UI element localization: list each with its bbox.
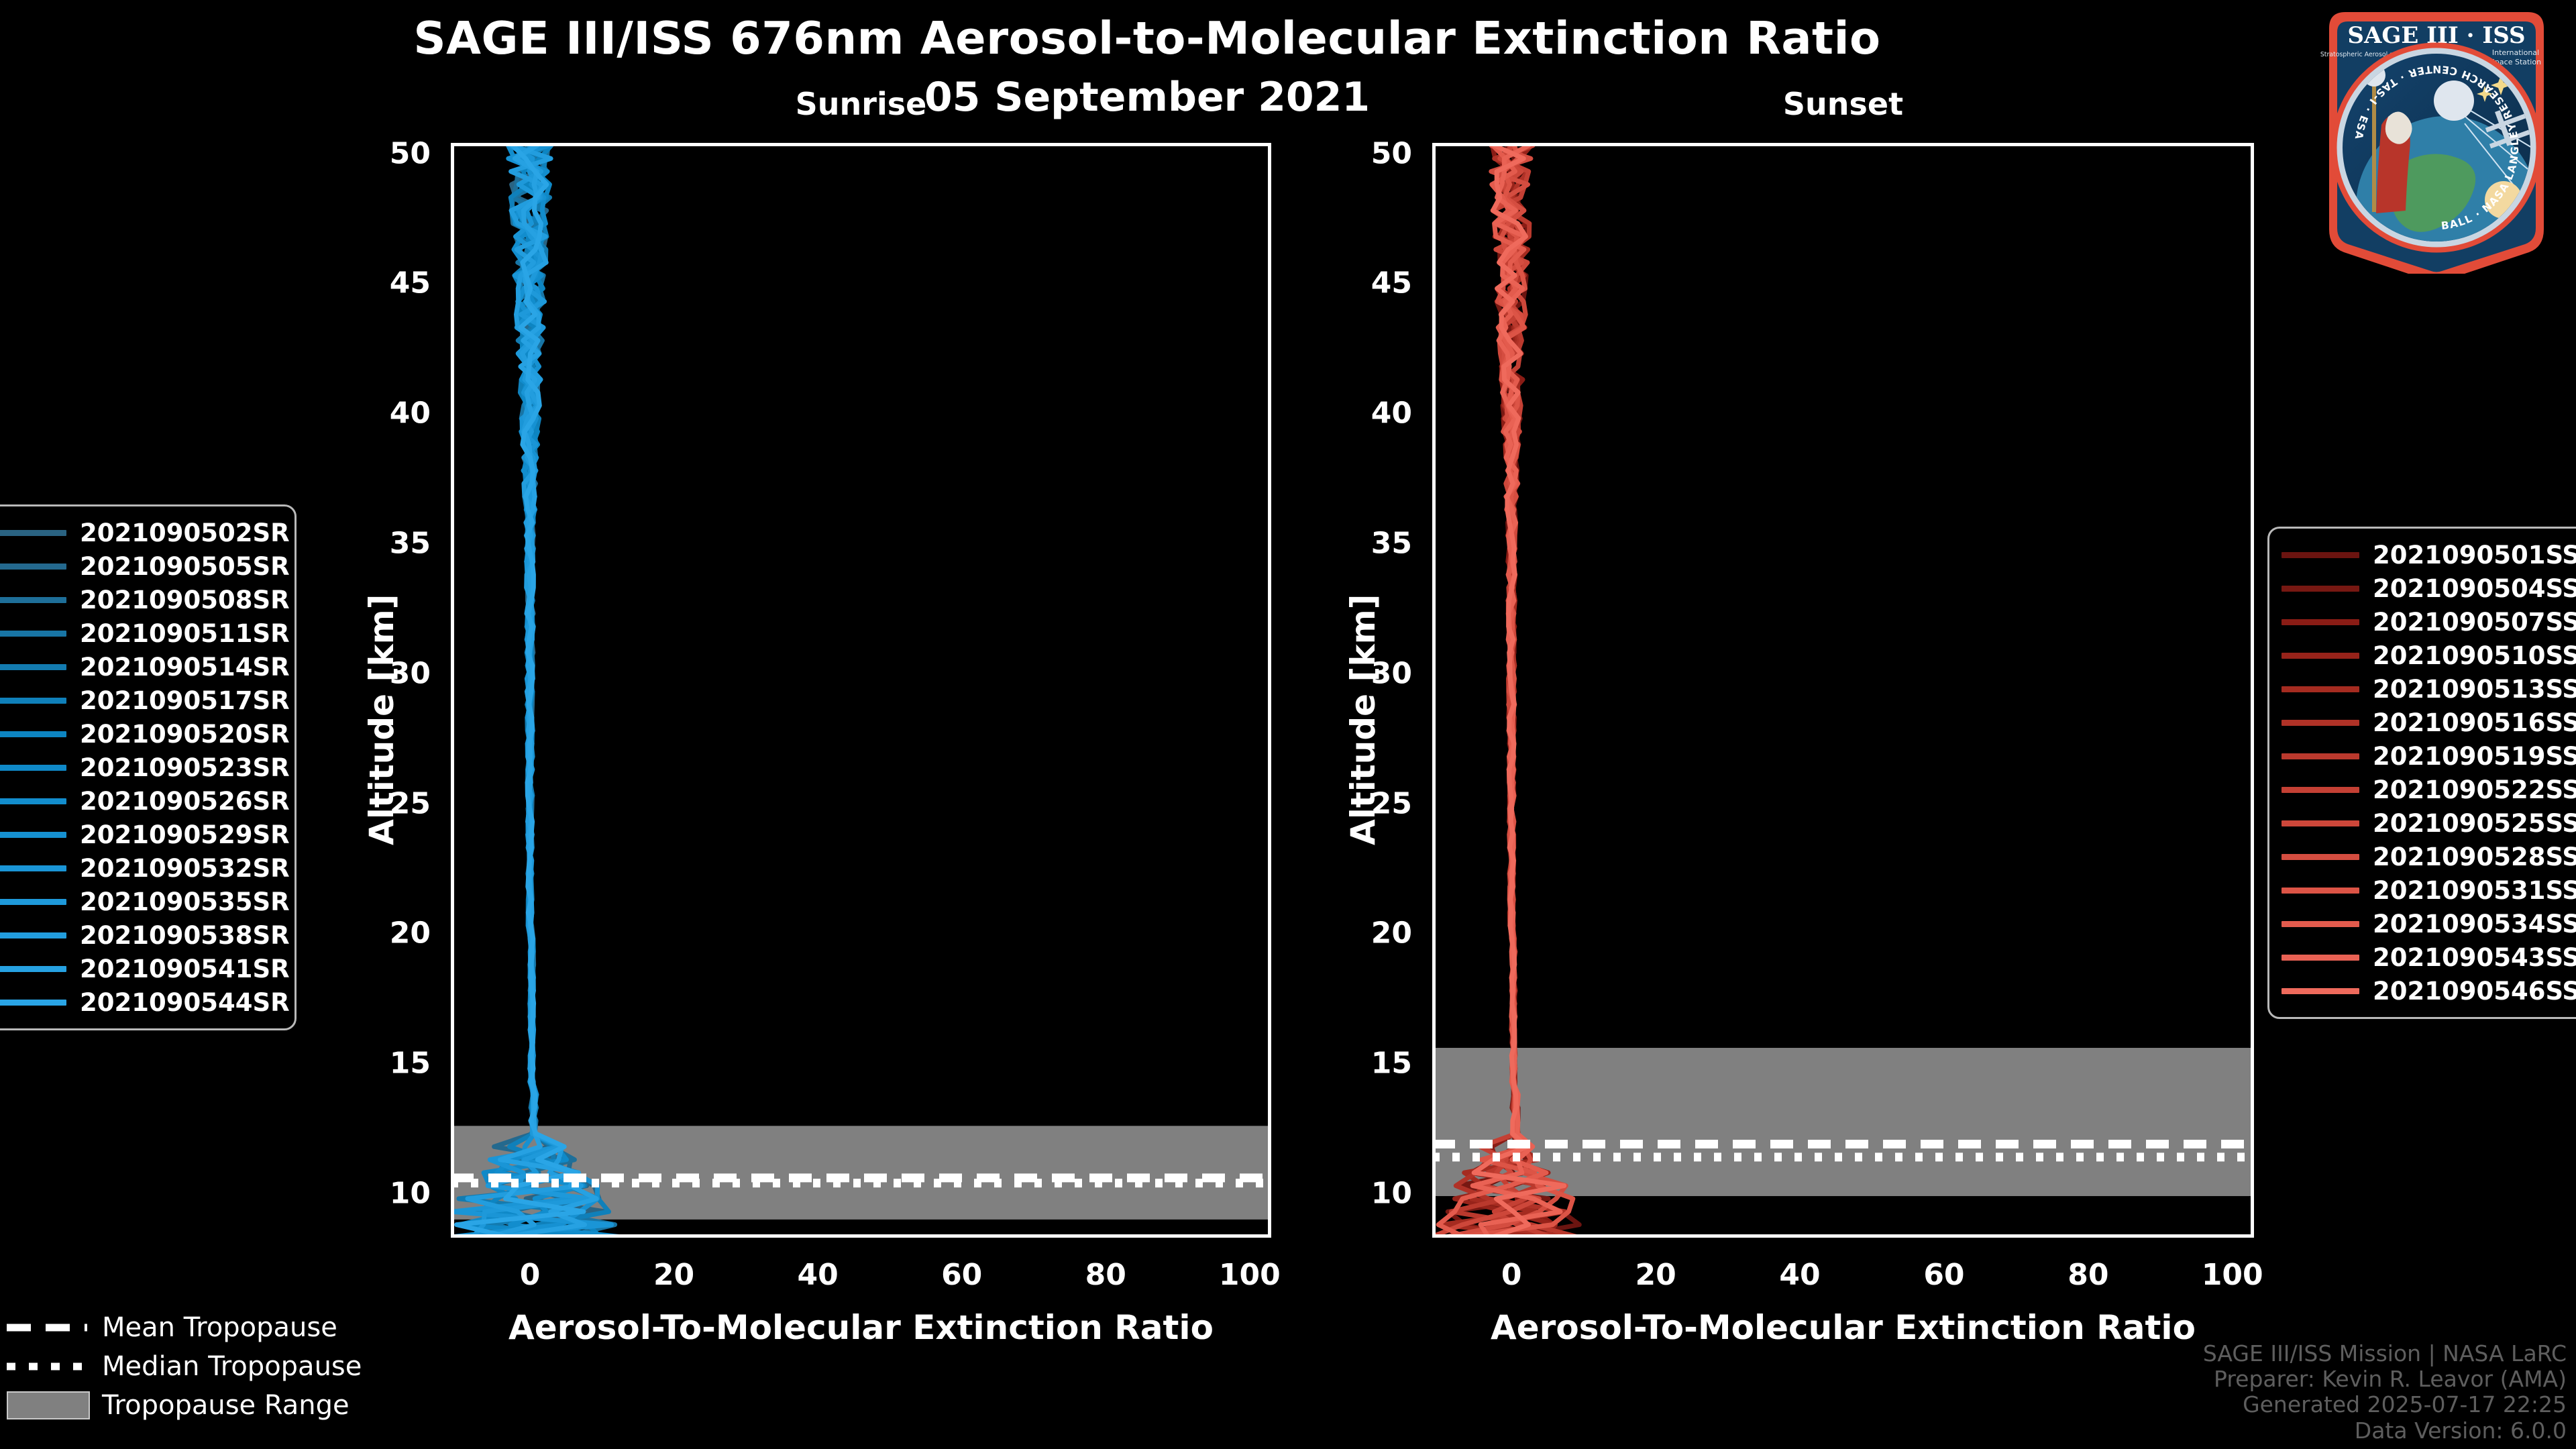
legend-item[interactable]: 2021090541SR <box>0 952 280 985</box>
legend-series-label: 2021090519SS <box>2373 742 2576 771</box>
legend-color-swatch <box>2282 888 2359 894</box>
legend-series-label: 2021090507SS <box>2373 608 2576 637</box>
legend-color-swatch <box>0 832 66 838</box>
legend-item[interactable]: 2021090519SS <box>2282 739 2576 773</box>
legend-color-swatch <box>0 631 66 637</box>
legend-color-swatch <box>0 664 66 670</box>
legend-series-label: 2021090522SS <box>2373 775 2576 804</box>
legend-series-label: 2021090502SR <box>80 519 290 547</box>
legend-item[interactable]: 2021090514SR <box>0 650 280 684</box>
legend-item[interactable]: 2021090501SS <box>2282 538 2576 572</box>
plot-area-sunrise <box>451 143 1271 1238</box>
legend-color-swatch <box>2282 653 2359 659</box>
legend-color-swatch <box>2282 921 2359 927</box>
legend-series-label: 2021090544SR <box>80 988 290 1017</box>
tropopause-legend: Mean Tropopause Median Tropopause Tropop… <box>7 1308 362 1425</box>
legend-color-swatch <box>0 932 66 938</box>
y-tick-label: 45 <box>1325 266 1412 301</box>
x-tick-label: 40 <box>1779 1258 1820 1292</box>
legend-series-label: 2021090513SS <box>2373 675 2576 704</box>
x-tick-label: 100 <box>1219 1258 1281 1292</box>
legend-color-swatch <box>2282 686 2359 692</box>
legend-color-swatch <box>0 563 66 570</box>
legend-item[interactable]: 2021090529SR <box>0 818 280 851</box>
legend-item[interactable]: 2021090522SS <box>2282 773 2576 806</box>
legend-item[interactable]: 2021090535SR <box>0 885 280 918</box>
legend-item[interactable]: 2021090528SS <box>2282 840 2576 873</box>
legend-series-label: 2021090516SS <box>2373 708 2576 737</box>
legend-item[interactable]: 2021090504SS <box>2282 572 2576 605</box>
page-title: SAGE III/ISS 676nm Aerosol-to-Molecular … <box>0 12 2294 64</box>
legend-color-swatch <box>2282 753 2359 759</box>
legend-series-label: 2021090517SR <box>80 686 290 715</box>
dotted-line-icon <box>7 1356 87 1377</box>
y-tick-label: 10 <box>1325 1177 1412 1211</box>
band-swatch-icon <box>7 1395 87 1415</box>
legend-series-label: 2021090546SS <box>2373 977 2576 1006</box>
legend-series-label: 2021090529SR <box>80 820 290 849</box>
legend-item-mean-tropopause: Mean Tropopause <box>7 1308 362 1347</box>
legend-item[interactable]: 2021090511SR <box>0 616 280 650</box>
legend-series-label: 2021090505SR <box>80 552 290 581</box>
patch-subtitle-right-1: International <box>2492 48 2539 57</box>
legend-item[interactable]: 2021090534SS <box>2282 907 2576 941</box>
legend-item[interactable]: 2021090525SS <box>2282 806 2576 840</box>
legend-color-swatch <box>2282 787 2359 793</box>
legend-item-median-tropopause: Median Tropopause <box>7 1347 362 1386</box>
legend-color-swatch <box>2282 955 2359 961</box>
legend-item[interactable]: 2021090532SR <box>0 851 280 885</box>
x-tick-label: 40 <box>798 1258 839 1292</box>
y-tick-label: 35 <box>1325 526 1412 560</box>
x-tick-label: 80 <box>1085 1258 1126 1292</box>
panel-label-sunset: Sunset <box>1432 86 2254 122</box>
tropopause-range-band <box>1432 1048 2254 1196</box>
plot-area-sunset <box>1432 143 2254 1238</box>
legend-color-swatch <box>0 731 66 737</box>
footer-line-generated: Generated 2025-07-17 22:25 <box>2203 1392 2567 1417</box>
legend-series-label: 2021090543SS <box>2373 943 2576 972</box>
y-tick-label: 40 <box>343 396 431 431</box>
legend-series-label: 2021090501SS <box>2373 541 2576 570</box>
y-tick-label: 50 <box>1325 136 1412 170</box>
legend-series-label: 2021090531SS <box>2373 876 2576 905</box>
legend-color-swatch <box>2282 820 2359 826</box>
legend-color-swatch <box>2282 552 2359 558</box>
y-tick-label: 15 <box>1325 1046 1412 1081</box>
legend-sunset[interactable]: 2021090501SS2021090504SS2021090507SS2021… <box>2267 527 2576 1019</box>
legend-color-swatch <box>0 765 66 771</box>
plot-sunrise <box>451 143 1271 1238</box>
legend-series-label: 2021090514SR <box>80 653 290 682</box>
legend-item[interactable]: 2021090543SS <box>2282 941 2576 974</box>
y-tick-label: 35 <box>343 526 431 560</box>
y-tick-label: 40 <box>1325 396 1412 431</box>
y-tick-label: 20 <box>1325 916 1412 951</box>
legend-item[interactable]: 2021090513SS <box>2282 672 2576 706</box>
legend-color-swatch <box>0 1000 66 1006</box>
legend-color-swatch <box>0 966 66 972</box>
legend-series-label: 2021090526SR <box>80 787 290 816</box>
legend-series-label: 2021090534SS <box>2373 910 2576 938</box>
x-tick-label: 60 <box>1923 1258 1964 1292</box>
legend-series-label: 2021090504SS <box>2373 574 2576 603</box>
legend-item[interactable]: 2021090502SR <box>0 516 280 549</box>
legend-color-swatch <box>2282 586 2359 592</box>
legend-series-label: 2021090523SR <box>80 753 290 782</box>
legend-item[interactable]: 2021090546SS <box>2282 974 2576 1008</box>
legend-series-label: 2021090535SR <box>80 888 290 916</box>
y-tick-label: 25 <box>343 786 431 820</box>
legend-label-median: Median Tropopause <box>102 1351 362 1382</box>
y-tick-label: 50 <box>343 136 431 170</box>
footer-credits: SAGE III/ISS Mission | NASA LaRC Prepare… <box>2203 1341 2567 1444</box>
legend-item[interactable]: 2021090517SR <box>0 684 280 717</box>
y-tick-label: 25 <box>1325 786 1412 820</box>
x-tick-label: 20 <box>1635 1258 1676 1292</box>
legend-series-label: 2021090525SS <box>2373 809 2576 838</box>
x-tick-label: 0 <box>520 1258 541 1292</box>
x-tick-label: 0 <box>1501 1258 1522 1292</box>
legend-color-swatch <box>2282 988 2359 994</box>
footer-line-mission: SAGE III/ISS Mission | NASA LaRC <box>2203 1341 2567 1366</box>
legend-color-swatch <box>0 698 66 704</box>
legend-series-label: 2021090538SR <box>80 921 290 950</box>
legend-label-range: Tropopause Range <box>102 1390 350 1421</box>
patch-moon <box>2434 80 2474 121</box>
legend-item[interactable]: 2021090544SR <box>0 985 280 1019</box>
legend-item[interactable]: 2021090508SR <box>0 583 280 616</box>
legend-color-swatch <box>2282 720 2359 726</box>
sage-iii-iss-mission-patch-logo: SAGE III · ISS Stratospheric Aerosol and… <box>2302 5 2571 274</box>
legend-label-mean: Mean Tropopause <box>102 1312 337 1343</box>
legend-sunrise[interactable]: 2021090502SR2021090505SR2021090508SR2021… <box>0 504 297 1030</box>
x-axis-title-left: Aerosol-To-Molecular Extinction Ratio <box>451 1308 1271 1347</box>
y-tick-label: 45 <box>343 266 431 301</box>
legend-color-swatch <box>2282 854 2359 860</box>
legend-item[interactable]: 2021090520SR <box>0 717 280 751</box>
y-tick-label: 30 <box>1325 656 1412 690</box>
x-tick-label: 20 <box>653 1258 694 1292</box>
legend-item[interactable]: 2021090505SR <box>0 549 280 583</box>
legend-color-swatch <box>0 899 66 905</box>
legend-item[interactable]: 2021090538SR <box>0 918 280 952</box>
panel-label-sunrise: Sunrise <box>451 86 1271 122</box>
legend-series-label: 2021090520SR <box>80 720 290 749</box>
legend-item[interactable]: 2021090516SS <box>2282 706 2576 739</box>
legend-color-swatch <box>2282 619 2359 625</box>
y-tick-label: 30 <box>343 656 431 690</box>
legend-item[interactable]: 2021090523SR <box>0 751 280 784</box>
legend-series-label: 2021090541SR <box>80 955 290 983</box>
legend-item[interactable]: 2021090507SS <box>2282 605 2576 639</box>
x-tick-label: 80 <box>2068 1258 2108 1292</box>
footer-line-preparer: Preparer: Kevin R. Leavor (AMA) <box>2203 1366 2567 1392</box>
legend-series-label: 2021090528SS <box>2373 843 2576 871</box>
legend-color-swatch <box>0 798 66 804</box>
legend-color-swatch <box>0 597 66 603</box>
legend-item-tropopause-range: Tropopause Range <box>7 1386 362 1425</box>
x-tick-label: 100 <box>2202 1258 2263 1292</box>
y-tick-label: 10 <box>343 1177 431 1211</box>
legend-color-swatch <box>0 530 66 536</box>
legend-item[interactable]: 2021090510SS <box>2282 639 2576 672</box>
dashed-line-icon <box>7 1318 87 1338</box>
plot-sunset <box>1432 143 2254 1238</box>
y-tick-label: 20 <box>343 916 431 951</box>
legend-series-label: 2021090532SR <box>80 854 290 883</box>
x-tick-label: 60 <box>941 1258 982 1292</box>
x-axis-title-right: Aerosol-To-Molecular Extinction Ratio <box>1432 1308 2254 1347</box>
legend-item[interactable]: 2021090526SR <box>0 784 280 818</box>
legend-series-label: 2021090508SR <box>80 586 290 614</box>
legend-item[interactable]: 2021090531SS <box>2282 873 2576 907</box>
legend-color-swatch <box>0 865 66 871</box>
footer-line-dataversion: Data Version: 6.0.0 <box>2203 1418 2567 1444</box>
legend-series-label: 2021090511SR <box>80 619 290 648</box>
legend-series-label: 2021090510SS <box>2373 641 2576 670</box>
y-tick-label: 15 <box>343 1046 431 1081</box>
